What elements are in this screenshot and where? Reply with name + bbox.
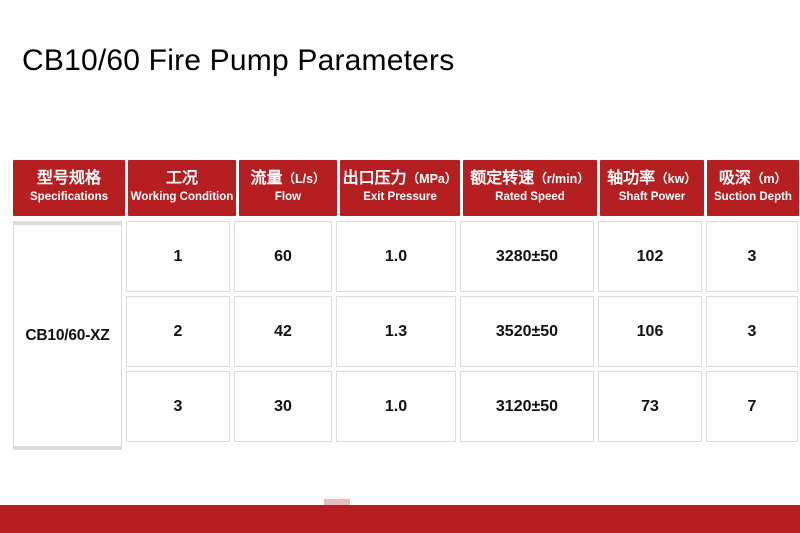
specification-merged-cell: CB10/60-XZ [13, 221, 122, 450]
cell-exit-pressure: 1.0 [336, 221, 456, 292]
table-body: CB10/60-XZ 1 60 1.0 3280±50 102 3 2 42 1… [13, 221, 787, 450]
table-row: 3 30 1.0 3120±50 73 7 [126, 371, 798, 442]
header-unit-text: （MPa） [407, 172, 458, 186]
header-cn-text: 额定转速 [470, 170, 534, 187]
cell-suction-depth: 7 [706, 371, 798, 442]
data-rows-area: 1 60 1.0 3280±50 102 3 2 42 1.3 3520±50 … [126, 221, 798, 450]
header-en-specifications: Specifications [30, 191, 108, 205]
header-cn-text: 流量 [250, 170, 282, 187]
header-unit-text: （r/min） [534, 172, 590, 186]
cell-shaft-power: 106 [598, 296, 702, 367]
header-cn-specifications: 型号规格 [37, 170, 101, 189]
header-en-flow: Flow [275, 191, 301, 205]
cell-flow: 42 [234, 296, 332, 367]
header-cn-exit-pressure: 出口压力（MPa） [343, 170, 458, 189]
header-cn-text: 吸深 [719, 170, 751, 187]
header-unit-text: （L/s） [282, 172, 325, 186]
cell-shaft-power: 73 [598, 371, 702, 442]
header-unit-text: （kw） [655, 172, 697, 186]
header-cn-shaft-power: 轴功率（kw） [607, 170, 697, 189]
table-row: 2 42 1.3 3520±50 106 3 [126, 296, 798, 367]
header-cn-text: 轴功率 [607, 170, 655, 187]
cell-working-condition: 2 [126, 296, 230, 367]
header-cn-suction-depth: 吸深（m） [719, 170, 787, 189]
header-cell-flow: 流量（L/s） Flow [239, 160, 337, 216]
header-cn-rated-speed: 额定转速（r/min） [470, 170, 590, 189]
spec-table: 型号规格 Specifications 工况 Working Condition… [13, 160, 787, 450]
header-en-shaft-power: Shaft Power [619, 191, 685, 205]
cell-rated-speed: 3120±50 [460, 371, 594, 442]
header-cn-text: 型号规格 [37, 170, 101, 187]
header-en-exit-pressure: Exit Pressure [363, 191, 437, 205]
header-cn-text: 出口压力 [343, 170, 407, 187]
header-en-rated-speed: Rated Speed [495, 191, 565, 205]
cell-exit-pressure: 1.0 [336, 371, 456, 442]
cell-working-condition: 3 [126, 371, 230, 442]
header-cell-suction-depth: 吸深（m） Suction Depth [707, 160, 799, 216]
header-cell-shaft-power: 轴功率（kw） Shaft Power [600, 160, 704, 216]
table-row: 1 60 1.0 3280±50 102 3 [126, 221, 798, 292]
cell-flow: 60 [234, 221, 332, 292]
header-cell-rated-speed: 额定转速（r/min） Rated Speed [463, 160, 597, 216]
header-cn-flow: 流量（L/s） [250, 170, 325, 189]
header-cell-working-condition: 工况 Working Condition [128, 160, 236, 216]
table-header-row: 型号规格 Specifications 工况 Working Condition… [13, 160, 787, 216]
cell-shaft-power: 102 [598, 221, 702, 292]
header-en-working-condition: Working Condition [131, 191, 234, 205]
cell-flow: 30 [234, 371, 332, 442]
page-title: CB10/60 Fire Pump Parameters [22, 44, 454, 78]
header-cn-working-condition: 工况 [166, 170, 198, 189]
specification-value: CB10/60-XZ [25, 327, 109, 345]
cell-rated-speed: 3520±50 [460, 296, 594, 367]
header-unit-text: （m） [751, 172, 787, 186]
cell-working-condition: 1 [126, 221, 230, 292]
header-cell-specifications: 型号规格 Specifications [13, 160, 125, 216]
cell-suction-depth: 3 [706, 221, 798, 292]
footer-accent-bar [0, 505, 800, 533]
cell-rated-speed: 3280±50 [460, 221, 594, 292]
header-en-suction-depth: Suction Depth [714, 191, 792, 205]
header-cell-exit-pressure: 出口压力（MPa） Exit Pressure [340, 160, 460, 216]
header-cn-text: 工况 [166, 170, 198, 187]
cell-suction-depth: 3 [706, 296, 798, 367]
cell-exit-pressure: 1.3 [336, 296, 456, 367]
